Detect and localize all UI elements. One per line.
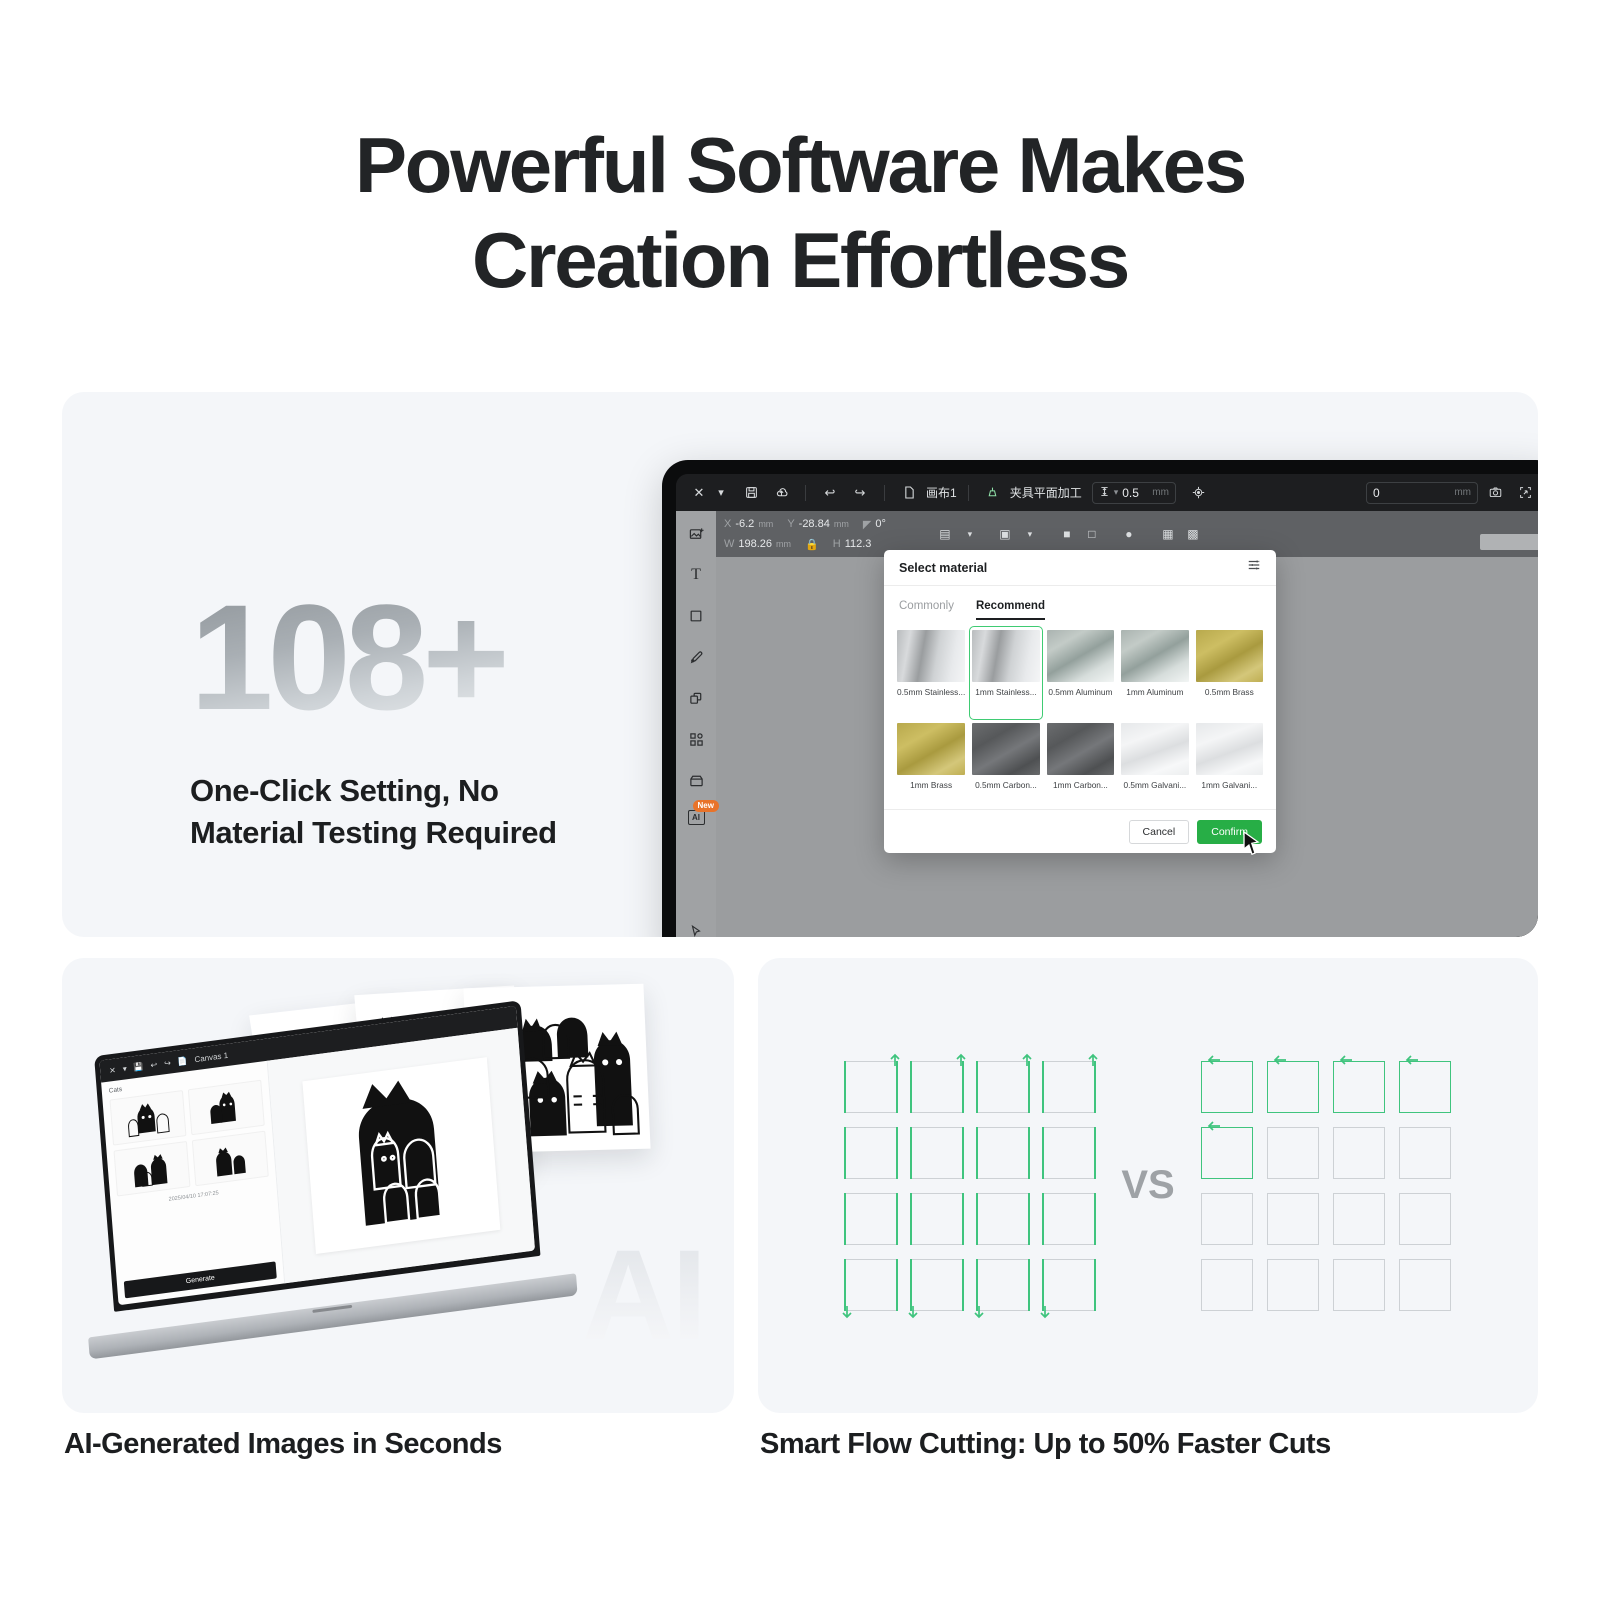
material-option[interactable]: 0.5mm Galvani...	[1121, 723, 1188, 810]
flow-path-left	[976, 1259, 978, 1311]
flow-path-left	[844, 1193, 846, 1245]
chevron-down-icon-align-v[interactable]: ▾	[1019, 524, 1041, 544]
material-label: 1mm Aluminum	[1126, 687, 1183, 697]
conventional-grid	[1201, 1061, 1451, 1311]
material-label: 1mm Carbon...	[1053, 780, 1108, 790]
thickness-unit: mm	[1152, 487, 1169, 498]
material-label: 1mm Stainless...	[975, 687, 1036, 697]
conventional-cell-outline	[1399, 1127, 1451, 1179]
flow-arrow-down-icon	[840, 1305, 854, 1319]
camera-icon[interactable]	[1482, 481, 1508, 505]
thickness-field[interactable]: ▾ 0.5 mm	[1092, 482, 1176, 504]
tool-rail: T	[676, 511, 716, 937]
align-vertical-icon[interactable]: ▣	[994, 524, 1016, 544]
material-option[interactable]: 0.5mm Stainless...	[897, 630, 965, 717]
flow-cell-outline	[977, 1061, 1029, 1113]
material-swatch	[1121, 630, 1188, 682]
thickness-value[interactable]: 0.5	[1122, 486, 1148, 500]
laptop-scene: AI	[62, 958, 734, 1413]
flow-path-left	[1042, 1127, 1044, 1179]
flow-cell	[977, 1259, 1029, 1311]
material-label: 0.5mm Carbon...	[975, 780, 1037, 790]
flow-cell-outline	[977, 1127, 1029, 1179]
vs-label: VS	[1121, 1163, 1174, 1208]
flow-path-right	[1094, 1127, 1096, 1179]
flow-cell	[845, 1193, 897, 1245]
flow-arrow-left-icon	[1273, 1053, 1287, 1067]
conventional-cell	[1267, 1061, 1319, 1113]
flow-cell-outline	[911, 1193, 963, 1245]
prop-y-key: Y	[787, 518, 794, 530]
canvas-artwork	[302, 1057, 501, 1255]
dialog-tabs: Commonly Recommend	[884, 586, 1276, 620]
flow-cell-outline	[911, 1127, 963, 1179]
offset-unit: mm	[1454, 487, 1471, 498]
target-icon[interactable]	[1186, 481, 1212, 505]
flow-comparison: VS	[758, 958, 1538, 1413]
prop-x-unit: mm	[758, 519, 773, 529]
prop-w-unit: mm	[776, 539, 791, 549]
flow-cell	[845, 1127, 897, 1179]
thumbnail-2[interactable]	[188, 1080, 265, 1136]
material-swatch	[1047, 630, 1114, 682]
material-label: 0.5mm Stainless...	[897, 687, 965, 697]
flow-path-right	[1094, 1259, 1096, 1311]
conventional-cell-outline	[1399, 1061, 1451, 1113]
material-swatch	[1196, 630, 1263, 682]
prop-angle-value[interactable]: 0°	[875, 518, 886, 530]
prop-x-value[interactable]: -6.2	[735, 518, 754, 530]
conventional-cell-outline	[1333, 1193, 1385, 1245]
flow-path-left	[910, 1193, 912, 1245]
material-swatch	[1121, 723, 1188, 775]
undo-icon[interactable]: ↩	[817, 481, 843, 505]
prop-h-key: H	[833, 538, 841, 550]
chevron-down-icon[interactable]: ▾	[708, 481, 734, 505]
generated-thumbnails	[109, 1080, 268, 1197]
material-grid: 0.5mm Stainless...1mm Stainless...0.5mm …	[884, 620, 1276, 809]
flow-path-left	[1042, 1061, 1044, 1113]
flow-path-left	[1042, 1259, 1044, 1311]
sliders-icon[interactable]	[1247, 558, 1261, 577]
material-option[interactable]: 1mm Brass	[897, 723, 965, 810]
flow-path-left	[910, 1061, 912, 1113]
fixture-icon[interactable]	[980, 481, 1006, 505]
redo-icon-laptop[interactable]: ↪	[164, 1058, 171, 1068]
conventional-cell-outline	[1267, 1193, 1319, 1245]
material-label: 0.5mm Aluminum	[1048, 687, 1112, 697]
material-label: 1mm Galvani...	[1201, 780, 1257, 790]
flow-cutting-feature-card: VS	[758, 958, 1538, 1413]
flow-cell	[845, 1061, 897, 1113]
conventional-cell-outline	[1267, 1127, 1319, 1179]
conventional-cell	[1267, 1259, 1319, 1311]
flow-path-right	[896, 1061, 898, 1113]
prop-h-value[interactable]: 112.3	[845, 538, 872, 550]
conventional-cell-outline	[1399, 1193, 1451, 1245]
material-swatch	[972, 723, 1039, 775]
conventional-cell	[1399, 1061, 1451, 1113]
close-icon-laptop[interactable]: ✕	[109, 1065, 116, 1075]
material-option[interactable]: 0.5mm Carbon...	[972, 723, 1039, 810]
tab-recommend[interactable]: Recommend	[976, 600, 1045, 620]
conventional-cell	[1399, 1259, 1451, 1311]
flow-cell	[911, 1061, 963, 1113]
text-tool-icon[interactable]: T	[685, 564, 707, 586]
flow-cell	[911, 1127, 963, 1179]
flow-path-right	[1028, 1193, 1030, 1245]
material-label: 0.5mm Galvani...	[1123, 780, 1186, 790]
stat-subtitle-line-1: One-Click Setting, No	[190, 773, 499, 808]
flow-arrow-left-icon	[1207, 1053, 1221, 1067]
tablet-device: ✕ ▾ ↩ ↪ 画布1	[662, 460, 1538, 937]
redo-icon[interactable]: ↪	[847, 481, 873, 505]
laptop-device: ✕ ▾ 💾 ↩ ↪ 📄 Canvas 1 Cats	[94, 1000, 544, 1356]
flow-cell	[1043, 1061, 1095, 1113]
conventional-cell-outline	[1201, 1193, 1253, 1245]
material-label: 0.5mm Brass	[1205, 687, 1254, 697]
thumbnail-1[interactable]	[109, 1090, 186, 1146]
flow-path-left	[844, 1061, 846, 1113]
conventional-cell-outline	[1201, 1259, 1253, 1311]
flow-path-right	[1028, 1259, 1030, 1311]
offset-value[interactable]: 0	[1373, 486, 1399, 500]
conventional-cell	[1201, 1259, 1253, 1311]
flow-path-right	[896, 1259, 898, 1311]
conventional-cell-outline	[1267, 1061, 1319, 1113]
flow-path-right	[962, 1193, 964, 1245]
conventional-cell-outline	[1201, 1061, 1253, 1113]
material-option[interactable]: 0.5mm Brass	[1196, 630, 1263, 717]
flow-cell-outline	[977, 1193, 1029, 1245]
material-swatch	[897, 630, 965, 682]
conventional-cell	[1201, 1061, 1253, 1113]
conventional-cell-outline	[1333, 1127, 1385, 1179]
cancel-button[interactable]: Cancel	[1129, 820, 1190, 844]
material-option[interactable]: 1mm Stainless...	[970, 627, 1041, 719]
offset-field[interactable]: 0 mm	[1366, 482, 1478, 504]
prop-y-value[interactable]: -28.84	[799, 518, 830, 530]
flow-path-right	[962, 1127, 964, 1179]
laptop-canvas[interactable]	[268, 1028, 535, 1284]
apps-grid-icon[interactable]	[685, 728, 707, 750]
conventional-cell-outline	[1201, 1127, 1253, 1179]
stat-subtitle-line-2: Material Testing Required	[190, 815, 557, 850]
material-swatch	[1196, 723, 1263, 775]
flow-path-left	[910, 1259, 912, 1311]
flow-cell	[1043, 1259, 1095, 1311]
flow-arrow-up-icon	[954, 1053, 968, 1067]
material-option[interactable]: 0.5mm Aluminum	[1047, 630, 1114, 717]
save-icon-laptop[interactable]: 💾	[133, 1061, 144, 1071]
flow-arrow-left-icon	[1207, 1119, 1221, 1133]
frame-icon[interactable]: ▦	[1157, 524, 1179, 544]
stat-number: 108+	[190, 582, 660, 732]
flow-path-left	[844, 1259, 846, 1311]
material-option[interactable]: 1mm Galvani...	[1196, 723, 1263, 810]
toolbar-divider	[805, 485, 806, 501]
flow-path-right	[1028, 1127, 1030, 1179]
conventional-cell	[1399, 1127, 1451, 1179]
thickness-icon	[1099, 486, 1110, 500]
lock-icon[interactable]: 🔒	[805, 538, 819, 551]
materials-feature-card: 108+ One-Click Setting, No Material Test…	[62, 392, 1538, 937]
flow-path-left	[910, 1127, 912, 1179]
page-title-line-2: Creation Effortless	[0, 213, 1600, 308]
laptop-screen: ✕ ▾ 💾 ↩ ↪ 📄 Canvas 1 Cats	[99, 1006, 535, 1305]
flow-cell-outline	[1043, 1127, 1095, 1179]
flow-arrow-left-icon	[1339, 1053, 1353, 1067]
pen-tool-icon[interactable]	[685, 646, 707, 668]
page-title: Powerful Software Makes Creation Effortl…	[0, 0, 1600, 308]
material-swatch	[897, 723, 965, 775]
cursor-tool-icon[interactable]	[676, 924, 716, 937]
send-back-icon[interactable]: □	[1081, 524, 1103, 544]
ai-feature-card: AI	[62, 958, 734, 1413]
prop-y-unit: mm	[834, 519, 849, 529]
ai-watermark: AI	[582, 1242, 704, 1351]
undo-icon-laptop[interactable]: ↩	[150, 1060, 157, 1070]
thumbnail-4[interactable]	[192, 1131, 269, 1187]
save-icon[interactable]	[738, 481, 764, 505]
laptop-canvas-name[interactable]: Canvas 1	[194, 1050, 228, 1063]
flow-path-right	[962, 1259, 964, 1311]
chevron-down-icon-align-h[interactable]: ▾	[959, 524, 981, 544]
layers-icon[interactable]	[685, 687, 707, 709]
flow-path-left	[1042, 1193, 1044, 1245]
flow-path-right	[1094, 1193, 1096, 1245]
document-icon-laptop: 📄	[177, 1056, 188, 1066]
flow-path-left	[976, 1061, 978, 1113]
flow-cell-outline	[1043, 1193, 1095, 1245]
prop-x-key: X	[724, 518, 731, 530]
ai-tool-icon[interactable]: AI New	[688, 810, 705, 825]
upload-icon[interactable]	[768, 481, 794, 505]
rotation-icon: ◤	[863, 518, 871, 531]
flow-path-right	[896, 1193, 898, 1245]
flow-cell	[977, 1193, 1029, 1245]
toolbar-divider-2	[884, 485, 885, 501]
boolean-icon[interactable]: ●	[1118, 524, 1140, 544]
chevron-down-icon-laptop[interactable]: ▾	[122, 1064, 127, 1074]
flow-cell-outline	[1043, 1061, 1095, 1113]
flow-path-right	[896, 1127, 898, 1179]
ai-card-caption: AI-Generated Images in Seconds	[64, 1428, 502, 1461]
flow-arrow-down-icon	[972, 1305, 986, 1319]
flow-arrow-down-icon	[906, 1305, 920, 1319]
flow-cell-outline	[845, 1127, 897, 1179]
flow-cell	[977, 1127, 1029, 1179]
page-title-line-1: Powerful Software Makes	[0, 118, 1600, 213]
floating-zoom-panel[interactable]	[1480, 534, 1538, 550]
flow-cell	[911, 1259, 963, 1311]
flow-cell	[1043, 1127, 1095, 1179]
flow-arrow-down-icon	[1038, 1305, 1052, 1319]
prop-w-value[interactable]: 198.26	[738, 538, 772, 550]
document-icon	[896, 481, 922, 505]
flow-cell-outline	[845, 1259, 897, 1311]
smart-flow-grid	[845, 1061, 1095, 1311]
conventional-cell	[1333, 1193, 1385, 1245]
conventional-cell	[1201, 1193, 1253, 1245]
tablet-screen: ✕ ▾ ↩ ↪ 画布1	[676, 474, 1538, 937]
conventional-cell	[1333, 1127, 1385, 1179]
flow-path-left	[976, 1193, 978, 1245]
flow-path-right	[1094, 1061, 1096, 1113]
conventional-cell	[1267, 1193, 1319, 1245]
flow-arrow-up-icon	[1086, 1053, 1100, 1067]
flow-path-left	[844, 1127, 846, 1179]
canvas-name-label[interactable]: 画布1	[926, 484, 957, 501]
crop-icon[interactable]: ▩	[1182, 524, 1204, 544]
flow-cell-outline	[845, 1193, 897, 1245]
material-option[interactable]: 1mm Aluminum	[1121, 630, 1188, 717]
flow-cell-outline	[977, 1259, 1029, 1311]
promo-page: Powerful Software Makes Creation Effortl…	[0, 0, 1600, 1600]
mouse-cursor-icon	[1242, 831, 1262, 857]
flow-arrow-up-icon	[1020, 1053, 1034, 1067]
conventional-cell-outline	[1399, 1259, 1451, 1311]
laptop-lid: ✕ ▾ 💾 ↩ ↪ 📄 Canvas 1 Cats	[94, 1000, 540, 1312]
new-badge: New	[693, 800, 719, 812]
conventional-cell-outline	[1267, 1259, 1319, 1311]
flow-cell	[845, 1259, 897, 1311]
shape-rect-icon[interactable]	[685, 605, 707, 627]
generate-button[interactable]: Generate	[124, 1261, 277, 1298]
conventional-cell	[1201, 1127, 1253, 1179]
thumbnail-3[interactable]	[113, 1141, 190, 1197]
image-icon[interactable]	[685, 523, 707, 545]
fixture-mode-label[interactable]: 夹具平面加工	[1010, 484, 1082, 501]
flow-cell-outline	[911, 1061, 963, 1113]
frame-capture-icon[interactable]	[1512, 481, 1538, 505]
conventional-cell	[1333, 1061, 1385, 1113]
stat-subtitle: One-Click Setting, No Material Testing R…	[190, 770, 660, 853]
flow-cell-outline	[1043, 1259, 1095, 1311]
align-horizontal-icon[interactable]: ▤	[934, 524, 956, 544]
tab-commonly[interactable]: Commonly	[899, 600, 954, 620]
material-swatch	[972, 630, 1039, 682]
material-swatch	[1047, 723, 1114, 775]
app-toolbar: ✕ ▾ ↩ ↪ 画布1	[676, 474, 1538, 511]
flow-arrow-up-icon	[888, 1053, 902, 1067]
library-icon[interactable]	[685, 769, 707, 791]
conventional-cell	[1333, 1259, 1385, 1311]
material-label: 1mm Brass	[910, 780, 952, 790]
flow-cell-outline	[911, 1259, 963, 1311]
flow-cell	[911, 1193, 963, 1245]
toolbar-divider-3	[968, 485, 969, 501]
flow-cell	[1043, 1193, 1095, 1245]
prop-w-key: W	[724, 538, 734, 550]
conventional-cell-outline	[1333, 1259, 1385, 1311]
conventional-cell	[1399, 1193, 1451, 1245]
stat-block: 108+ One-Click Setting, No Material Test…	[190, 582, 660, 853]
flow-arrow-left-icon	[1405, 1053, 1419, 1067]
dialog-header: Select material	[884, 550, 1276, 586]
conventional-cell-outline	[1333, 1061, 1385, 1113]
flow-path-left	[976, 1127, 978, 1179]
ai-generation-panel: Cats	[101, 1061, 285, 1306]
bring-front-icon[interactable]: ■	[1056, 524, 1078, 544]
select-material-dialog: Select material Commonly Recommend 0.5mm…	[884, 550, 1276, 853]
dialog-title: Select material	[899, 561, 987, 575]
flow-path-right	[1028, 1061, 1030, 1113]
conventional-cell	[1267, 1127, 1319, 1179]
flow-cell-outline	[845, 1061, 897, 1113]
dialog-footer: Cancel Confirm	[884, 809, 1276, 853]
flow-path-right	[962, 1061, 964, 1113]
flow-cell	[977, 1061, 1029, 1113]
flow-card-caption: Smart Flow Cutting: Up to 50% Faster Cut…	[760, 1428, 1331, 1461]
material-option[interactable]: 1mm Carbon...	[1047, 723, 1114, 810]
